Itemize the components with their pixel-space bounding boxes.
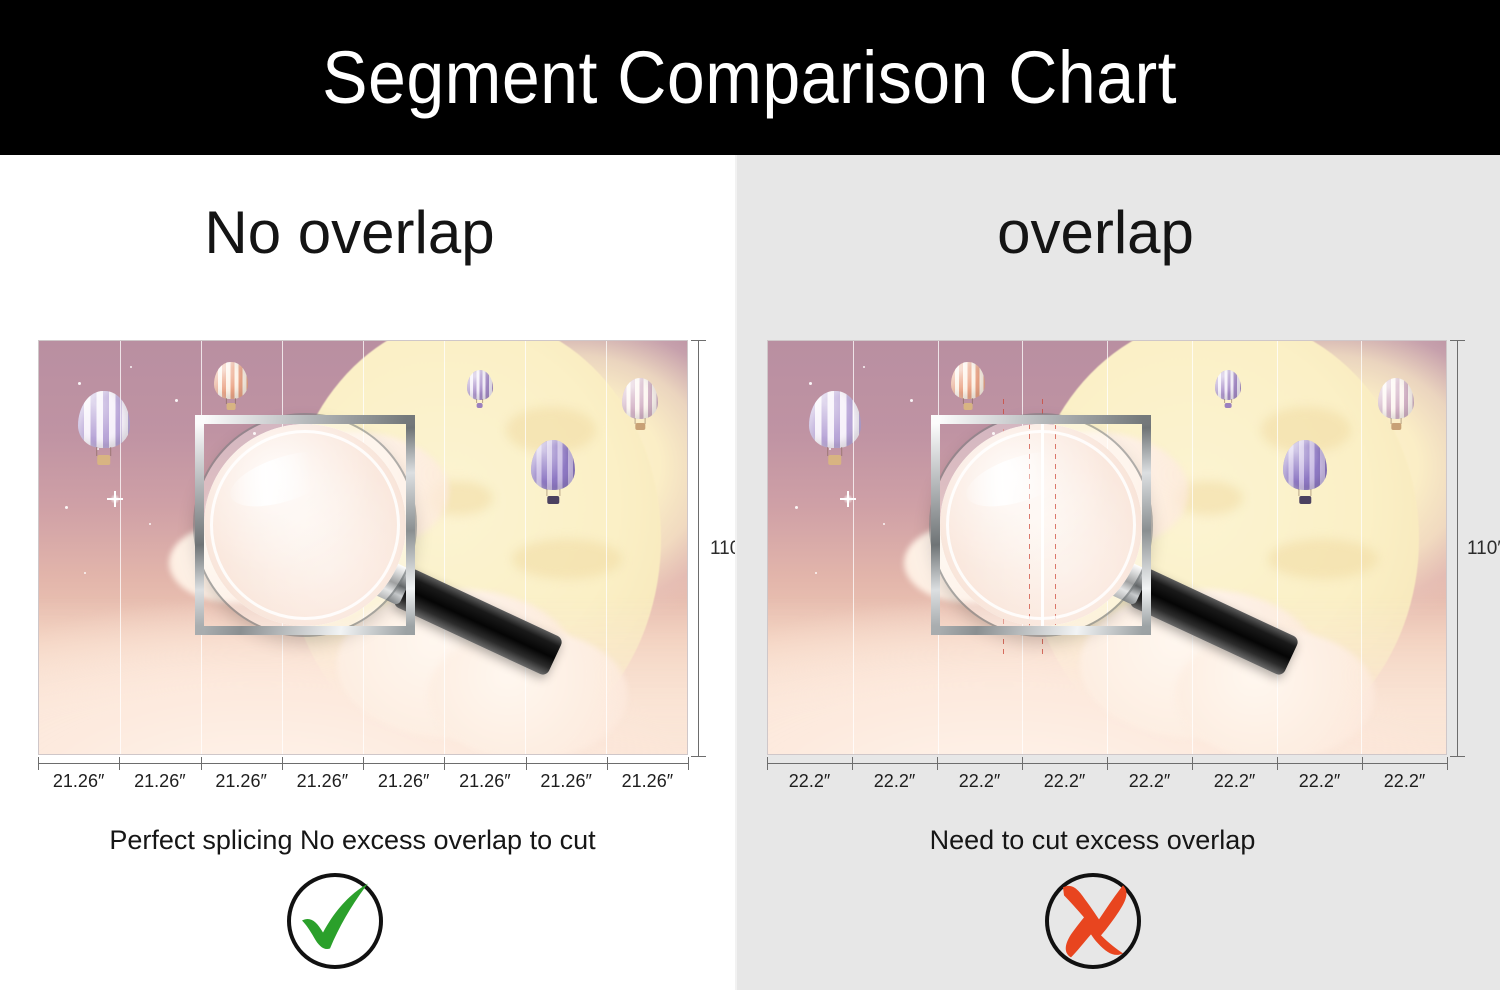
hot-air-balloon: [531, 440, 575, 504]
balloon-envelope: [214, 362, 248, 399]
segment-label: 21.26″: [526, 772, 607, 790]
segment-label: 21.26″: [38, 772, 119, 790]
dimension-tick: [767, 757, 768, 770]
caption-no-overlap: Perfect splicing No excess overlap to cu…: [0, 827, 720, 854]
hot-air-balloon: [467, 370, 493, 408]
dimension-tick: [444, 757, 445, 770]
mural-block-no-overlap: 21.26″ 21.26″ 21.26″ 21.26″ 21.26″ 21.26…: [38, 340, 688, 760]
dimension-tick: [1192, 757, 1193, 770]
segment-label: 21.26″: [282, 772, 363, 790]
segment-label: 22.2″: [1192, 772, 1277, 790]
mural-seam-line: [120, 341, 121, 754]
height-dimension-line: [698, 340, 699, 757]
balloon-basket: [828, 455, 842, 465]
balloon-basket: [227, 403, 236, 409]
panel-overlap: overlap: [735, 155, 1500, 990]
balloon-envelope: [951, 362, 985, 399]
star: [84, 572, 86, 574]
magnifier-glass: [931, 415, 1151, 635]
balloon-envelope: [1378, 378, 1414, 419]
star: [815, 572, 817, 574]
segment-label: 22.2″: [1022, 772, 1107, 790]
mural-seam-line: [1361, 341, 1362, 754]
comparison-chart-page: Segment Comparison Chart No overlap: [0, 0, 1500, 990]
dimension-tick: [1107, 757, 1108, 770]
panel-divider: [735, 155, 737, 990]
hot-air-balloon: [78, 391, 130, 465]
panel-heading-no-overlap: No overlap: [0, 203, 717, 263]
balloon-basket: [476, 403, 483, 408]
segment-label: 22.2″: [1362, 772, 1447, 790]
segment-label: 21.26″: [119, 772, 200, 790]
balloon-basket: [548, 496, 559, 504]
mural-block-overlap: 22.2″ 22.2″ 22.2″ 22.2″ 22.2″ 22.2″ 22.2…: [767, 340, 1447, 760]
dimension-tick: [937, 757, 938, 770]
hot-air-balloon: [214, 362, 248, 410]
caption-overlap: Need to cut excess overlap: [710, 827, 1475, 854]
dimension-tick: [688, 757, 689, 770]
hot-air-balloon: [1283, 440, 1327, 504]
star: [175, 399, 178, 402]
star: [883, 523, 885, 525]
height-dimension-line: [1457, 340, 1458, 757]
dimension-tick: [38, 757, 39, 770]
balloon-envelope: [467, 370, 493, 400]
dimension-tick: [1447, 757, 1448, 770]
segment-label: 22.2″: [767, 772, 852, 790]
star: [795, 506, 798, 509]
segment-label: 22.2″: [937, 772, 1022, 790]
panels-container: No overlap: [0, 155, 1500, 990]
verdict-circle: [1045, 873, 1141, 969]
segment-label-row-no-overlap: 21.26″ 21.26″ 21.26″ 21.26″ 21.26″ 21.26…: [38, 772, 688, 790]
cross-mark-icon: [1051, 879, 1135, 959]
mural-seam-line: [1192, 341, 1193, 754]
verdict-no-overlap: [0, 873, 702, 969]
balloon-basket: [1392, 423, 1401, 430]
dimension-tick: [119, 757, 120, 770]
segment-label: 22.2″: [852, 772, 937, 790]
balloon-envelope: [78, 391, 130, 449]
mural-seam-line: [606, 341, 607, 754]
star: [149, 523, 151, 525]
dimension-tick: [201, 757, 202, 770]
magnifier-glass: [195, 415, 415, 635]
star: [78, 382, 81, 385]
verdict-circle: [287, 873, 383, 969]
star: [863, 366, 865, 368]
balloon-envelope: [1215, 370, 1241, 400]
sparkle-star: [843, 494, 853, 504]
hot-air-balloon: [622, 378, 658, 430]
balloon-basket: [636, 423, 645, 430]
segment-label: 22.2″: [1107, 772, 1192, 790]
balloon-envelope: [622, 378, 658, 419]
dimension-tick: [1362, 757, 1363, 770]
width-dimension-line: [767, 763, 1447, 764]
segment-label: 21.26″: [444, 772, 525, 790]
mural-seam-line: [853, 341, 854, 754]
dimension-tick: [607, 757, 608, 770]
magnifier-lens: [931, 415, 1151, 635]
mural-image-overlap: [767, 340, 1447, 755]
dimension-tick: [363, 757, 364, 770]
star: [130, 366, 132, 368]
dimension-tick: [282, 757, 283, 770]
check-mark-icon: [292, 880, 378, 958]
segment-label: 21.26″: [363, 772, 444, 790]
segment-label-row-overlap: 22.2″ 22.2″ 22.2″ 22.2″ 22.2″ 22.2″ 22.2…: [767, 772, 1447, 790]
star: [65, 506, 68, 509]
sparkle-star: [110, 494, 120, 504]
balloon-basket: [97, 455, 111, 465]
hot-air-balloon: [951, 362, 985, 410]
title-banner: Segment Comparison Chart: [0, 0, 1500, 155]
balloon-basket: [964, 403, 973, 409]
height-dimension-label: 110″: [1467, 538, 1500, 560]
segment-label: 22.2″: [1277, 772, 1362, 790]
hot-air-balloon: [1215, 370, 1241, 408]
star: [809, 382, 812, 385]
segment-label: 21.26″: [201, 772, 282, 790]
mural-image-no-overlap: [38, 340, 688, 755]
mural-seam-line: [444, 341, 445, 754]
magnifier-inner-ring: [210, 430, 400, 620]
mural-seam-line: [525, 341, 526, 754]
dimension-tick: [1277, 757, 1278, 770]
verdict-overlap: [710, 873, 1475, 969]
balloon-basket: [1225, 403, 1232, 408]
page-title: Segment Comparison Chart: [323, 41, 1178, 115]
dimension-tick: [1022, 757, 1023, 770]
magnifier-lens: [195, 415, 415, 635]
panel-no-overlap: No overlap: [0, 155, 735, 990]
segment-label: 21.26″: [607, 772, 688, 790]
hot-air-balloon: [1378, 378, 1414, 430]
magnifier-inner-ring: [946, 430, 1136, 620]
panel-heading-overlap: overlap: [713, 203, 1478, 263]
balloon-envelope: [1283, 440, 1327, 490]
width-dimension-line: [38, 763, 688, 764]
dimension-tick: [526, 757, 527, 770]
mural-seam-line: [1277, 341, 1278, 754]
balloon-basket: [1300, 496, 1311, 504]
star: [910, 399, 913, 402]
balloon-envelope: [531, 440, 575, 490]
dimension-tick: [852, 757, 853, 770]
